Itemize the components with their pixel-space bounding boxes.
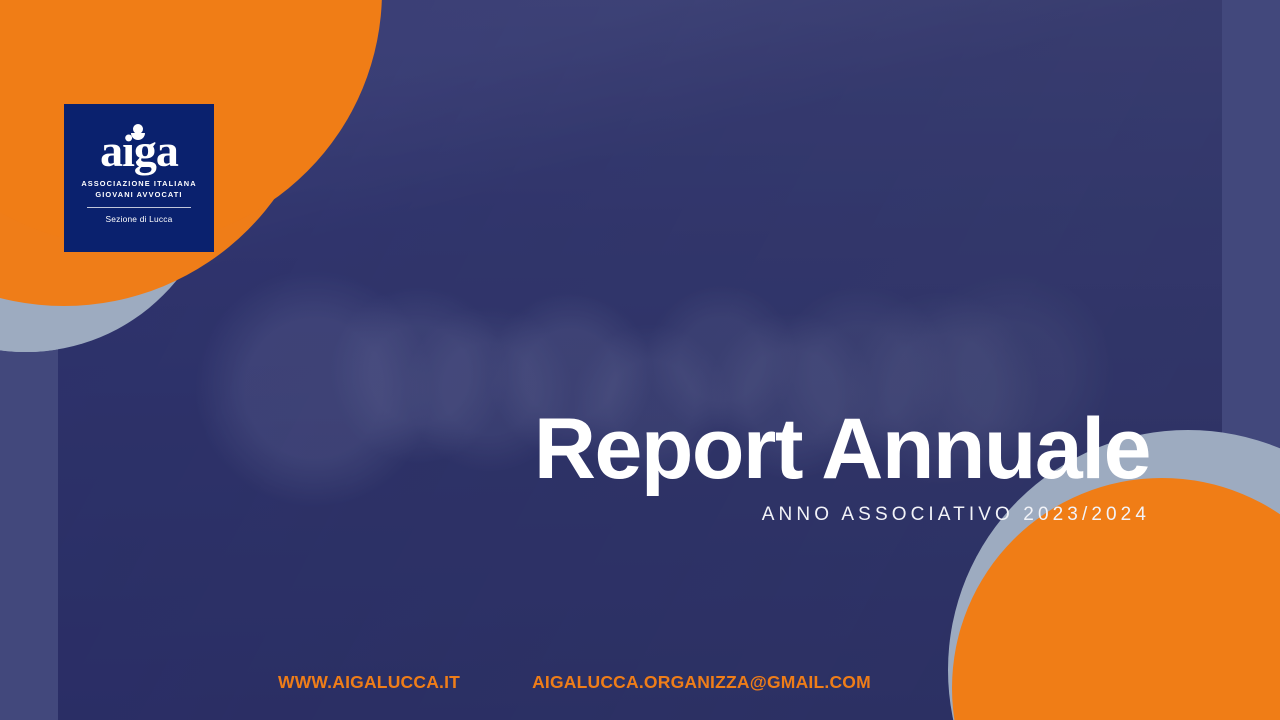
page-subtitle: ANNO ASSOCIATIVO 2023/2024: [534, 504, 1150, 526]
website-link[interactable]: WWW.AIGALUCCA.IT: [278, 672, 460, 693]
logo-divider: [87, 207, 191, 208]
title-slide: aiga ASSOCIAZIONE ITALIANA GIOVANI AVVOC…: [0, 0, 1280, 720]
page-title: Report Annuale: [534, 406, 1150, 492]
aiga-wordmark: aiga: [100, 130, 178, 172]
aiga-figure-icon: [133, 124, 143, 134]
aiga-logo-card: aiga ASSOCIAZIONE ITALIANA GIOVANI AVVOC…: [64, 104, 214, 252]
footer-contacts: WWW.AIGALUCCA.IT AIGALUCCA.ORGANIZZA@GMA…: [278, 672, 871, 693]
email-link[interactable]: AIGALUCCA.ORGANIZZA@GMAIL.COM: [532, 672, 871, 693]
headline-block: Report Annuale ANNO ASSOCIATIVO 2023/202…: [534, 406, 1150, 526]
aiga-tagline-line2: GIOVANI AVVOCATI: [81, 190, 196, 201]
aiga-tagline: ASSOCIAZIONE ITALIANA GIOVANI AVVOCATI: [81, 179, 196, 200]
aiga-section-name: Sezione di Lucca: [106, 214, 173, 224]
aiga-tagline-line1: ASSOCIAZIONE ITALIANA: [81, 179, 196, 190]
